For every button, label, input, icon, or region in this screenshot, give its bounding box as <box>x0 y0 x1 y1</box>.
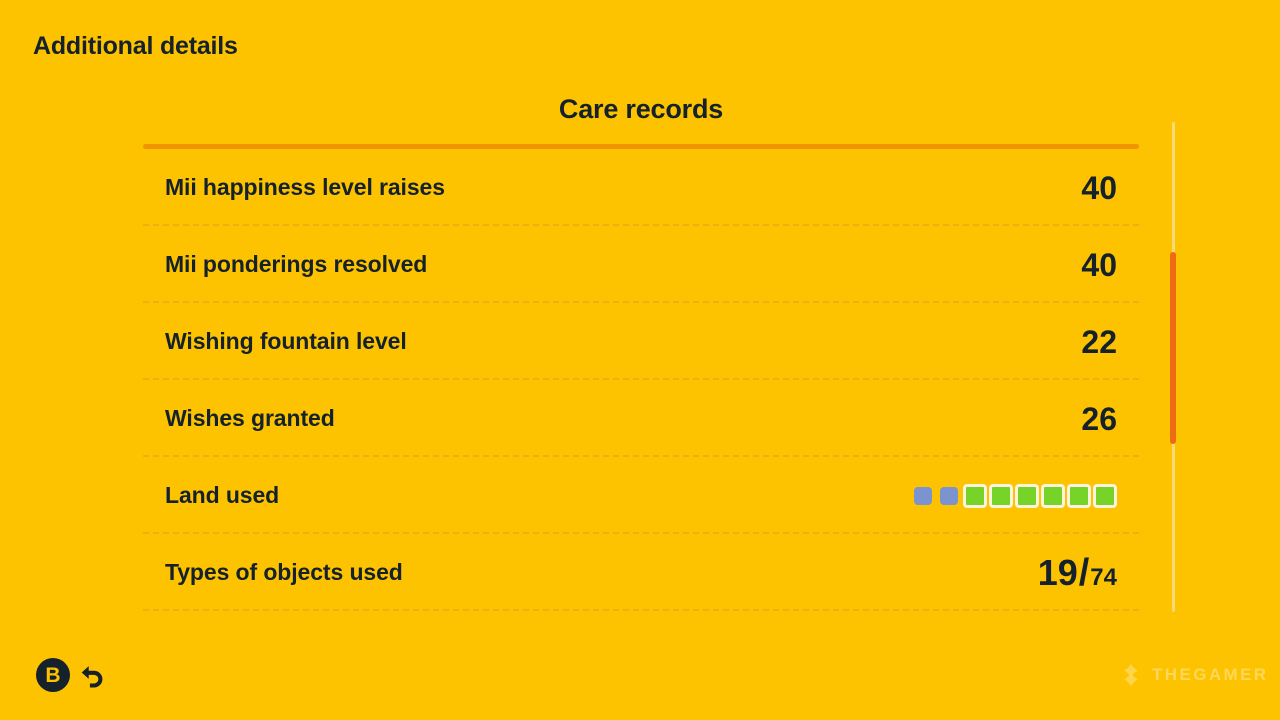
record-value: 22 <box>1081 326 1117 358</box>
record-value: 26 <box>1081 403 1117 435</box>
land-slot-free <box>1015 484 1039 508</box>
record-label: Mii happiness level raises <box>165 174 445 201</box>
land-used-meter <box>911 484 1117 508</box>
record-label: Types of objects used <box>165 559 403 586</box>
land-slot-used <box>914 487 932 505</box>
fraction-numerator: 19 <box>1038 555 1078 591</box>
scrollbar-thumb[interactable] <box>1170 252 1176 444</box>
watermark-text: THEGAMER <box>1152 665 1268 685</box>
panel-title: Care records <box>143 86 1139 123</box>
screen-root: Additional details Care records Mii happ… <box>0 0 1280 720</box>
record-label: Wishing fountain level <box>165 328 407 355</box>
fraction-denominator: 74 <box>1090 566 1117 590</box>
record-row-wishing-fountain: Wishing fountain level 22 <box>143 303 1139 380</box>
land-slot-free <box>1093 484 1117 508</box>
record-row-land-used: Land used <box>143 457 1139 534</box>
care-records-panel: Care records Mii happiness level raises … <box>143 86 1139 611</box>
record-label: Mii ponderings resolved <box>165 251 427 278</box>
page-title: Additional details <box>33 32 238 61</box>
b-button-icon[interactable]: B <box>36 658 70 692</box>
record-label: Land used <box>165 482 279 509</box>
watermark: THEGAMER <box>1118 662 1268 688</box>
back-control[interactable]: B <box>36 658 107 692</box>
back-arrow-icon[interactable] <box>77 660 107 690</box>
land-slot-used <box>940 487 958 505</box>
land-slot-free <box>989 484 1013 508</box>
land-slot-free <box>1041 484 1065 508</box>
thegamer-diamond-logo-icon <box>1118 662 1144 688</box>
record-row-wishes-granted: Wishes granted 26 <box>143 380 1139 457</box>
record-value: 40 <box>1081 172 1117 204</box>
fraction-separator: / <box>1078 554 1091 592</box>
land-slot-free <box>1067 484 1091 508</box>
record-row-types-of-objects: Types of objects used 19 / 74 <box>143 534 1139 611</box>
record-value-fraction: 19 / 74 <box>1038 554 1117 592</box>
record-row-mii-happiness: Mii happiness level raises 40 <box>143 149 1139 226</box>
record-value: 40 <box>1081 249 1117 281</box>
records-list: Mii happiness level raises 40 Mii ponder… <box>143 149 1139 611</box>
record-label: Wishes granted <box>165 405 335 432</box>
record-row-mii-ponderings: Mii ponderings resolved 40 <box>143 226 1139 303</box>
land-slot-free <box>963 484 987 508</box>
